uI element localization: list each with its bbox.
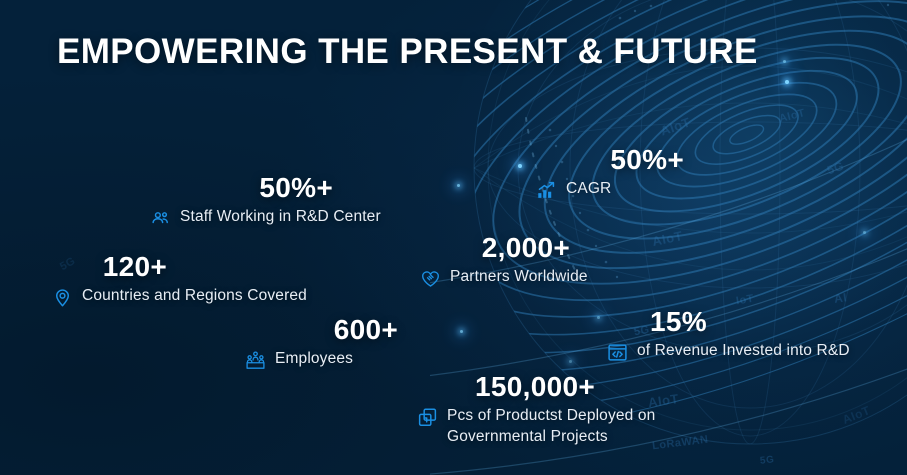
stat-employees: 600+ Employees	[245, 315, 398, 371]
page-title: EMPOWERING THE PRESENT & FUTURE	[57, 30, 758, 73]
stat-value: 15%	[607, 307, 707, 336]
people-group-icon	[150, 208, 171, 229]
stat-label: Staff Working in R&D Center	[180, 207, 381, 227]
code-window-icon	[607, 342, 628, 363]
stat-value: 2,000+	[420, 233, 570, 262]
stat-value: 50%+	[536, 145, 684, 174]
stacked-layers-icon	[417, 407, 438, 428]
stat-products: 150,000+ Pcs of Productst Deployed on Go…	[417, 372, 655, 447]
stat-value: 50%+	[150, 173, 333, 202]
map-pin-icon	[52, 287, 73, 308]
stat-value: 600+	[245, 315, 398, 344]
stat-value: 120+	[52, 252, 167, 281]
stat-label: Pcs of Productst Deployed on Governmenta…	[447, 406, 655, 447]
employees-team-icon	[245, 350, 266, 371]
stat-label: Countries and Regions Covered	[82, 286, 307, 306]
stat-staff: 50%+ Staff Working in R&D Center	[150, 173, 381, 229]
stat-label: Partners Worldwide	[450, 267, 588, 287]
stat-countries: 120+ Countries and Regions Covered	[52, 252, 307, 308]
stat-label: Employees	[275, 349, 353, 369]
stat-label: CAGR	[566, 179, 611, 199]
stat-label: of Revenue Invested into R&D	[637, 341, 850, 361]
stat-value: 150,000+	[417, 372, 595, 401]
stat-cagr: 50%+ CAGR	[536, 145, 684, 201]
stat-partners: 2,000+ Partners Worldwide	[420, 233, 588, 289]
growth-chart-icon	[536, 180, 557, 201]
stat-rnd: 15% of Revenue Invested into R&D	[607, 307, 850, 363]
handshake-heart-icon	[420, 268, 441, 289]
